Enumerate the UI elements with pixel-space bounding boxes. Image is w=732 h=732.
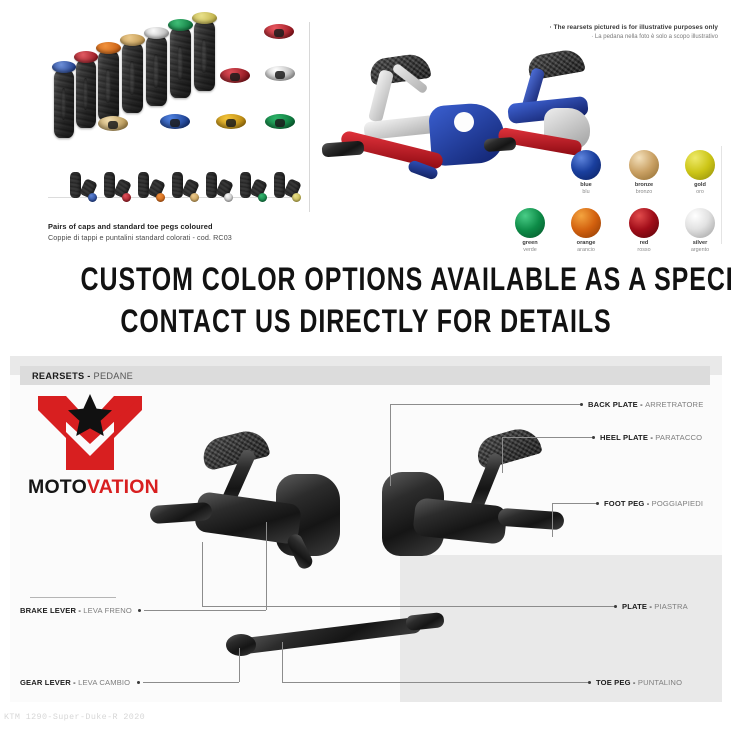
peg-cap-green — [168, 19, 193, 31]
swatch-name: silver — [678, 240, 722, 246]
swatch-name: bronze — [622, 182, 666, 188]
caps-caption-italian: Coppie di tappi e puntalini standard col… — [48, 233, 232, 242]
callout-bullet — [592, 436, 595, 439]
callout-foot-peg: FOOT PEG - POGGIAPIEDI — [604, 499, 703, 508]
swatch-dot-blue — [571, 150, 601, 180]
callout-brake-lever: BRAKE LEVER - LEVA FRENO — [20, 606, 132, 615]
gear-lever-pivot — [226, 634, 256, 656]
screw-cap-red-2 — [218, 68, 252, 98]
illustrative-disclaimer: · The rearsets pictured is for illustrat… — [488, 24, 718, 40]
promo-headline: CUSTOM COLOR OPTIONS AVAILABLE AS A SPEC… — [0, 260, 732, 340]
toe-peg-red — [76, 60, 96, 128]
callout-bullet — [137, 681, 140, 684]
leader-line-heel-plate-drop — [502, 437, 503, 473]
callout-gear-lever: GEAR LEVER - LEVA CAMBIO — [20, 678, 130, 687]
caps-caption: Pairs of caps and standard toe pegs colo… — [48, 222, 232, 242]
leader-line-toe-peg — [282, 682, 588, 683]
swatch-orange[interactable]: orange arancio — [564, 208, 608, 253]
swatch-dot-red — [629, 208, 659, 238]
callout-label-en: FOOT PEG — [604, 499, 644, 508]
swatch-name: red — [622, 240, 666, 246]
logo-m-chevron-svg — [36, 392, 144, 472]
toe-peg-blue — [54, 70, 74, 138]
section-header-text: REARSETS - PEDANE — [32, 371, 133, 381]
peg-body — [206, 172, 217, 198]
swatch-row-1: blue blu bronze bronzo gold oro — [536, 150, 724, 202]
panel-divider-vertical — [309, 22, 310, 212]
colour-swatch-grid: blue blu bronze bronzo gold oro green — [536, 150, 724, 260]
screw-cap-bronze — [96, 116, 130, 146]
callout-bullet — [588, 681, 591, 684]
leader-line-gear-lever-rise — [239, 648, 240, 682]
hex-socket — [108, 121, 118, 129]
swatch-dot-orange — [571, 208, 601, 238]
peg-body — [274, 172, 285, 198]
logo-wordmark: MOTOVATION — [28, 476, 159, 499]
gear-lever-toe-peg — [405, 612, 444, 631]
swatch-name-italian: argento — [678, 247, 722, 253]
swatch-name-italian: verde — [508, 247, 552, 253]
callout-label-en: BACK PLATE — [588, 400, 638, 409]
swatch-dot-gold — [685, 150, 715, 180]
caps-and-pegs-panel — [34, 10, 310, 250]
logo-word-moto: MOTO — [28, 476, 87, 498]
callout-label-en: HEEL PLATE — [600, 433, 648, 442]
disclaimer-italian: · La pedana nella foto è solo a scopo il… — [488, 34, 718, 40]
callout-plate: PLATE - PIASTRA — [622, 602, 688, 611]
logo-word-vation: VATION — [87, 476, 159, 498]
callout-label-it: PUNTALINO — [638, 678, 682, 687]
section-title-separator: - — [84, 371, 93, 381]
headline-line-1: CUSTOM COLOR OPTIONS AVAILABLE AS A SPEC… — [81, 260, 652, 298]
foot-peg-right — [484, 137, 517, 152]
swatch-dot-silver — [685, 208, 715, 238]
swatch-dot-green — [515, 208, 545, 238]
toe-peg-silver — [146, 36, 167, 106]
logo-mark-m — [36, 392, 144, 472]
callout-label-it: LEVA CAMBIO — [78, 678, 130, 687]
swatch-blue[interactable]: blue blu — [564, 150, 608, 195]
toe-peg-orange — [98, 51, 119, 121]
swatch-green[interactable]: green verde — [508, 208, 552, 253]
hex-socket — [275, 119, 285, 127]
hex-socket — [170, 119, 180, 127]
callout-bullet — [138, 609, 141, 612]
top-section: Pairs of caps and standard toe pegs colo… — [0, 0, 732, 256]
peg-cap-blue — [88, 193, 97, 202]
callout-bullet — [596, 502, 599, 505]
hex-socket — [230, 73, 240, 81]
callout-label-it: PIASTRA — [654, 602, 688, 611]
leader-line-heel-plate — [502, 437, 592, 438]
callout-label-it: ARRETRATORE — [645, 400, 703, 409]
headline-line-2: CONTACT US DIRECTLY FOR DETAILS — [81, 302, 652, 340]
foot-peg-left — [322, 141, 365, 158]
swatch-name-italian: oro — [678, 189, 722, 195]
screw-cap-green — [263, 114, 297, 144]
toe-peg-gold — [194, 21, 215, 91]
leader-line-toe-peg-rise — [282, 642, 283, 682]
peg-cap-orange — [156, 193, 165, 202]
callout-bullet — [614, 605, 617, 608]
swatch-name: blue — [564, 182, 608, 188]
screw-cap-silver — [263, 66, 297, 96]
hex-socket — [275, 71, 285, 79]
toe-peg-bronze — [122, 43, 143, 113]
peg-body — [70, 172, 81, 198]
callout-label-en: GEAR LEVER — [20, 678, 71, 687]
peg-cap-green — [258, 193, 267, 202]
swatch-name: gold — [678, 182, 722, 188]
leader-line-back-plate-drop — [390, 404, 391, 486]
swatch-gold[interactable]: gold oro — [678, 150, 722, 195]
swatch-name: orange — [564, 240, 608, 246]
swatch-red[interactable]: red rosso — [622, 208, 666, 253]
toe-peg-green — [170, 28, 191, 98]
file-caption: KTM 1290-Super-Duke-R 2020 — [4, 712, 145, 722]
peg-cap-bronze — [120, 34, 145, 46]
swatch-name-italian: bronzo — [622, 189, 666, 195]
peg-cap-gold — [192, 12, 217, 24]
section-title-bold: REARSETS — [32, 371, 84, 381]
peg-cap-blue — [52, 61, 76, 73]
decorative-rule — [30, 597, 116, 598]
section-header-bar: REARSETS - PEDANE — [20, 366, 710, 385]
swatch-dot-bronze — [629, 150, 659, 180]
callout-label-en: BRAKE LEVER — [20, 606, 76, 615]
product-sheet-page: Pairs of caps and standard toe pegs colo… — [0, 0, 732, 732]
peg-body — [138, 172, 149, 198]
callout-label-en: TOE PEG — [596, 678, 631, 687]
swatch-name-italian: arancio — [564, 247, 608, 253]
caps-caption-english: Pairs of caps and standard toe pegs colo… — [48, 222, 232, 231]
peg-cap-silver — [224, 193, 233, 202]
screw-cap-gold — [214, 114, 248, 144]
swatch-bronze[interactable]: bronze bronzo — [622, 150, 666, 195]
callout-label-en: PLATE — [622, 602, 647, 611]
peg-body — [240, 172, 251, 198]
screw-cap-blue — [158, 114, 192, 144]
peg-body — [104, 172, 115, 198]
hex-socket — [226, 119, 236, 127]
peg-cap-orange — [96, 42, 121, 54]
peg-cap-bronze — [190, 193, 199, 202]
leader-line-plate — [202, 606, 614, 607]
callout-bullet — [580, 403, 583, 406]
swatch-row-2: green verde orange arancio red rosso sil… — [536, 208, 724, 260]
swatch-name: green — [508, 240, 552, 246]
leader-line-gear-lever — [143, 682, 239, 683]
leader-line-foot-peg-drop — [552, 503, 553, 537]
disclaimer-english: · The rearsets pictured is for illustrat… — [488, 24, 718, 31]
motovation-logo: MOTOVATION — [28, 392, 168, 504]
peg-cap-red — [122, 193, 131, 202]
section-title-light: PEDANE — [94, 371, 134, 381]
peg-cap-red — [74, 51, 98, 63]
leader-line-back-plate — [390, 404, 580, 405]
callout-label-it: LEVA FRENO — [83, 606, 132, 615]
peg-cap-gold — [292, 193, 301, 202]
leader-line-brake-lever — [144, 610, 266, 611]
callout-label-it: POGGIAPIEDI — [652, 499, 703, 508]
swatch-name-italian: rosso — [622, 247, 666, 253]
callout-back-plate: BACK PLATE - ARRETRATORE — [588, 400, 703, 409]
plate-blue-hole — [454, 112, 474, 132]
leader-line-plate-rise — [202, 542, 203, 606]
leader-line-foot-peg — [552, 503, 596, 504]
peg-body — [172, 172, 183, 198]
callout-toe-peg: TOE PEG - PUNTALINO — [596, 678, 682, 687]
swatch-name-italian: blu — [564, 189, 608, 195]
peg-cap-silver — [144, 27, 169, 39]
hex-socket — [274, 29, 284, 37]
callout-heel-plate: HEEL PLATE - PARATACCO — [600, 433, 702, 442]
screw-cap-red — [262, 24, 296, 54]
callout-label-it: PARATACCO — [655, 433, 702, 442]
swatch-silver[interactable]: silver argento — [678, 208, 722, 253]
leader-line-brake-lever-rise — [266, 522, 267, 610]
